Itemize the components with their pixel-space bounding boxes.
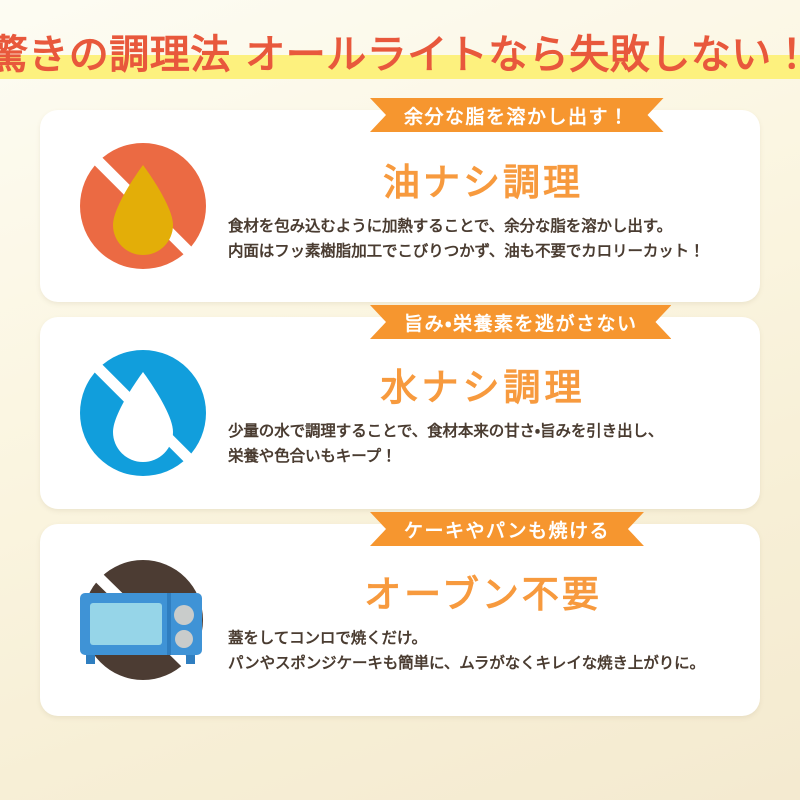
card-text-no-oil: 油ナシ調理 食材を包み込むように加熱することで、余分な脂を溶かし出す。 内面はフ… (228, 148, 738, 264)
description-line-2: 内面はフッ素樹脂加工でこびりつかず、油も不要でカロリーカット！ (228, 239, 738, 264)
page-title: 驚きの調理法 オールライトなら失敗しない！ (0, 35, 800, 75)
card-description-no-oil: 食材を包み込むように加熱することで、余分な脂を溶かし出す。 内面はフッ素樹脂加工… (228, 214, 738, 264)
card-text-no-oven: オーブン不要 蓋をしてコンロで焼くだけ。 パンやスポンジケーキも簡単に、ムラがな… (228, 564, 738, 676)
feature-card-no-water: 旨み・栄養素を逃がさない 水ナシ調理 少量の水で調理する (40, 317, 760, 509)
page-title-text: 驚きの調理法 オールライトなら失敗しない！ (0, 32, 800, 78)
description-line-2: 栄養や色合いもキープ！ (228, 444, 738, 469)
description-line-2: パンやスポンジケーキも簡単に、ムラがなくキレイな焼き上がりに。 (228, 651, 738, 676)
infographic-page: 驚きの調理法 オールライトなら失敗しない！ 余分な脂を溶かし出す！ (0, 0, 800, 800)
feature-card-no-oil: 余分な脂を溶かし出す！ 油ナシ調理 食材を包み込むように加熱する (40, 110, 760, 302)
ribbon-banner-no-water: 旨み・栄養素を逃がさない (370, 305, 671, 339)
description-line-1: 蓋をしてコンロで焼くだけ。 (228, 626, 738, 651)
ribbon-banner-no-oven: ケーキやパンも焼ける (370, 512, 644, 546)
ribbon-banner-no-oil: 余分な脂を溶かし出す！ (370, 98, 664, 132)
page-title-area: 驚きの調理法 オールライトなら失敗しない！ (0, 0, 800, 110)
card-heading-no-oven: オーブン不要 (228, 574, 738, 615)
feature-card-no-oven: ケーキやパンも焼ける (40, 524, 760, 716)
card-heading-no-oil: 油ナシ調理 (228, 162, 738, 203)
card-heading-no-water: 水ナシ調理 (228, 367, 738, 408)
card-description-no-water: 少量の水で調理することで、食材本来の甘さ・旨みを引き出し、 栄養や色合いもキープ… (228, 419, 738, 469)
microwave-glyph (80, 593, 202, 664)
card-text-no-water: 水ナシ調理 少量の水で調理することで、食材本来の甘さ・旨みを引き出し、 栄養や色… (228, 357, 738, 469)
card-description-no-oven: 蓋をしてコンロで焼くだけ。 パンやスポンジケーキも簡単に、ムラがなくキレイな焼き… (228, 626, 738, 676)
feature-card-list: 余分な脂を溶かし出す！ 油ナシ調理 食材を包み込むように加熱する (0, 110, 800, 716)
description-line-1: 少量の水で調理することで、食材本来の甘さ・旨みを引き出し、 (228, 419, 738, 444)
no-water-drop-icon (58, 328, 228, 498)
description-line-1: 食材を包み込むように加熱することで、余分な脂を溶かし出す。 (228, 214, 738, 239)
no-oven-icon (58, 535, 228, 705)
no-oil-drop-icon (58, 121, 228, 291)
